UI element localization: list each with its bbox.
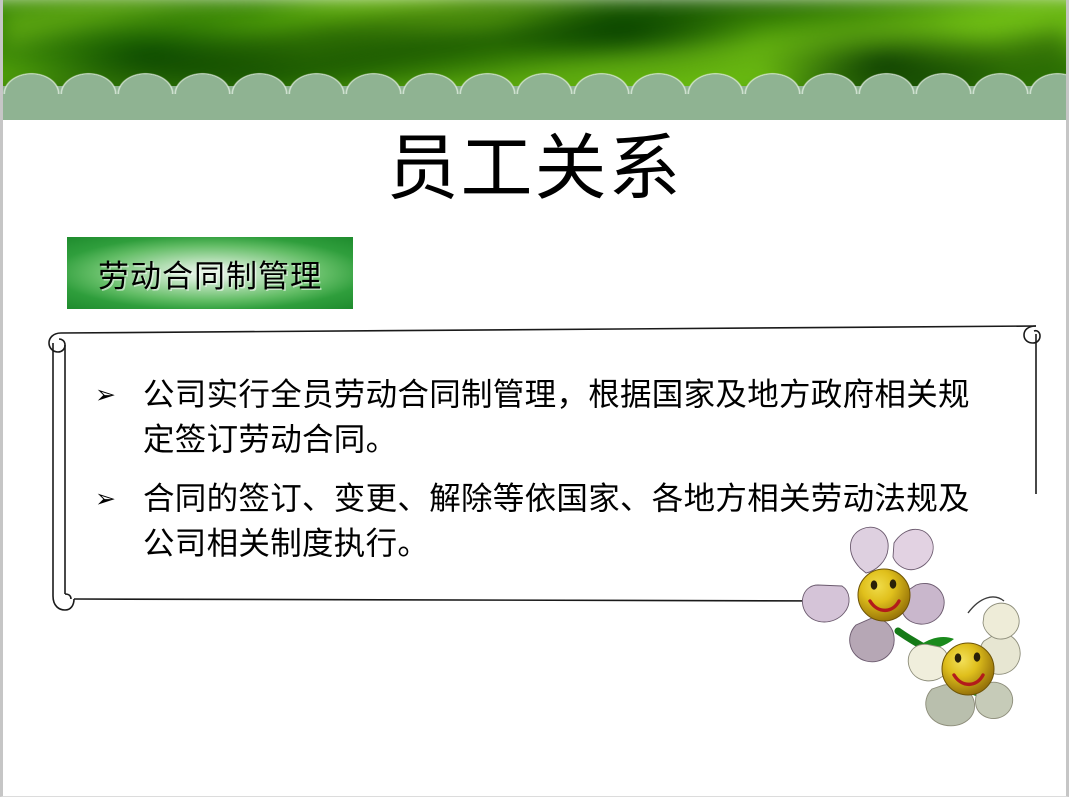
scallop-highlight-edge xyxy=(3,71,1066,94)
frame-corner-uturn-inner xyxy=(65,594,71,599)
frame-corner-curl-top-left xyxy=(49,333,65,352)
flowers-decoration xyxy=(798,523,1058,738)
section-header-label: 劳动合同制管理 xyxy=(98,251,322,296)
arrow-bullet-icon: ➢ xyxy=(89,372,143,417)
frame-corner-curl-top-right xyxy=(1024,326,1040,343)
flower-pink xyxy=(802,527,944,662)
list-item: ➢ 公司实行全员劳动合同制管理，根据国家及地方政府相关规定签订劳动合同。 xyxy=(89,372,1001,462)
section-header-box: 劳动合同制管理 xyxy=(67,237,353,309)
presentation-slide: 员工关系 劳动合同制管理 ➢ 公司实行全员劳动合同制管理，根 xyxy=(0,0,1069,797)
frame-bottom-rail xyxy=(74,599,843,601)
slide-title: 员工关系 xyxy=(3,131,1066,207)
list-item-text: 公司实行全员劳动合同制管理，根据国家及地方政府相关规定签订劳动合同。 xyxy=(143,372,1001,462)
frame-top-rail xyxy=(61,326,1036,333)
header-banner xyxy=(3,0,1066,120)
arrow-bullet-icon: ➢ xyxy=(89,476,143,521)
